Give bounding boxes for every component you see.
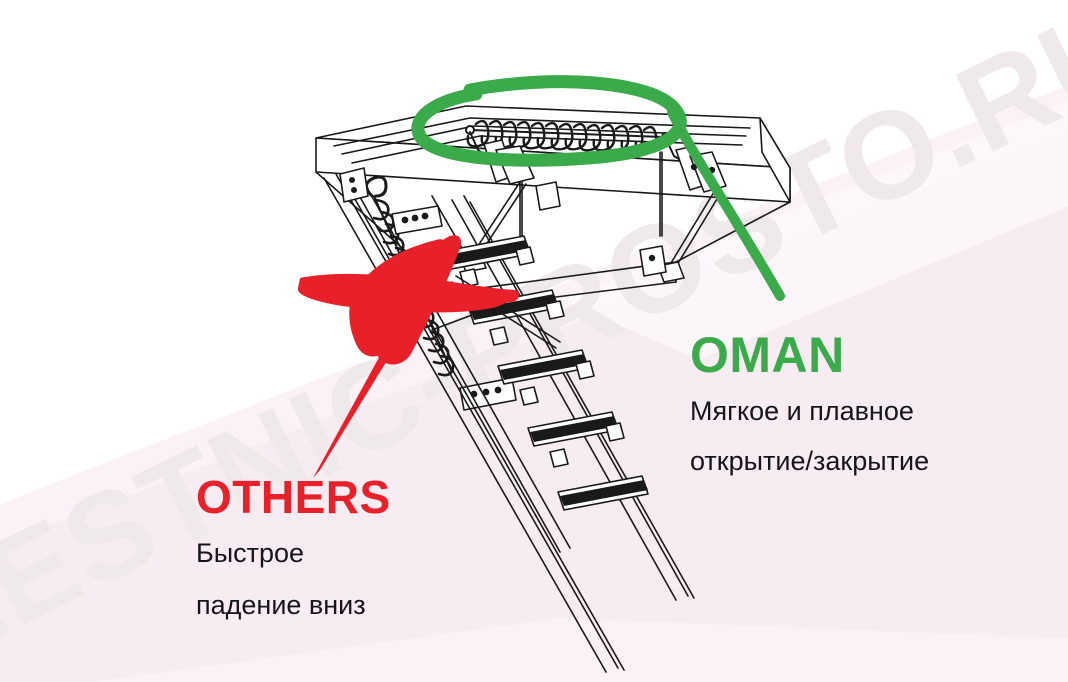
others-description-line-1: Быстрое <box>196 534 391 572</box>
callout-oman: OMAN Мягкое и плавное открытие/закрытие <box>690 330 929 481</box>
oman-brand-label: OMAN <box>690 330 929 380</box>
oman-description-line-2: открытие/закрытие <box>690 442 929 480</box>
illustration-canvas: LESTNIC-PROSTO.RU <box>0 0 1068 682</box>
green-ellipse-annotation <box>418 82 780 296</box>
red-arrow-annotation <box>298 235 519 478</box>
others-brand-label: OTHERS <box>196 474 391 520</box>
others-description-line-2: падение вниз <box>196 586 391 624</box>
oman-description-line-1: Мягкое и плавное <box>690 392 929 430</box>
callout-others: OTHERS Быстрое падение вниз <box>196 474 391 625</box>
